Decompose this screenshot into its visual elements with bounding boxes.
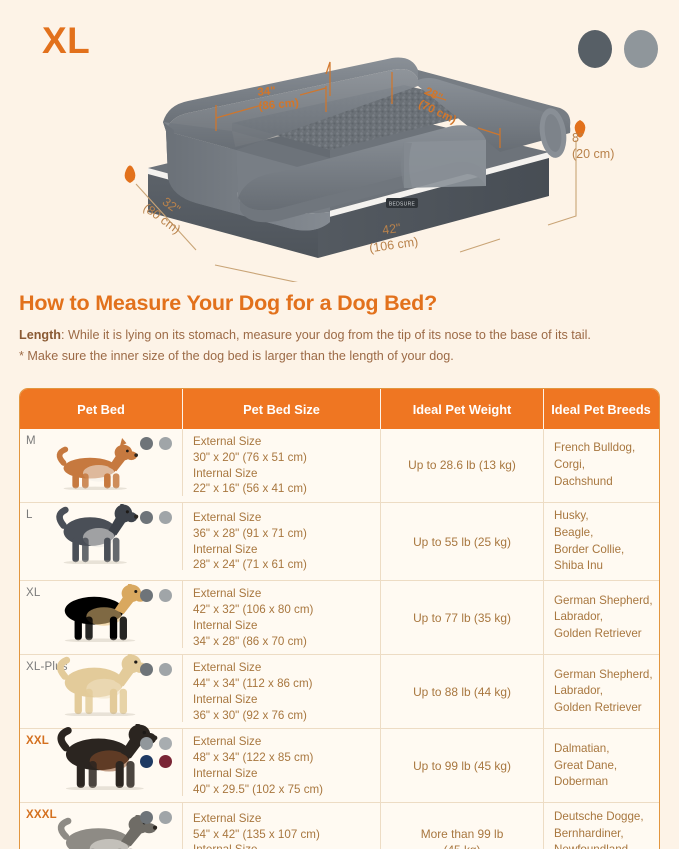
cell-ideal-pet-weight: More than 99 lb(45 kg): [381, 803, 544, 849]
breed-line: Labrador,: [554, 683, 653, 700]
pet-bed-size-text: External Size54" x 42" (135 x 107 cm)Int…: [193, 811, 320, 849]
size-line: Internal Size: [193, 466, 307, 482]
ideal-pet-breeds-text: French Bulldog,Corgi,Dachshund: [554, 440, 635, 490]
cell-ideal-pet-breeds: Husky,Beagle,Border Collie,Shiba Inu: [544, 503, 658, 580]
size-line: Internal Size: [193, 692, 313, 708]
row-color-swatches: [140, 811, 172, 824]
table-body: M External Size30" x 20" (76 x 51 cm)Int…: [20, 429, 659, 849]
size-line: Internal Size: [193, 766, 323, 782]
breed-line: Deutsche Dogge,: [554, 809, 644, 826]
size-line: 34" x 28" (86 x 70 cm): [193, 634, 313, 650]
cell-ideal-pet-breeds: Deutsche Dogge,Bernhardiner,Newfoundland…: [544, 803, 658, 849]
size-line: 36" x 28" (91 x 71 cm): [193, 526, 307, 542]
pet-bed-size-label: XL: [26, 587, 40, 599]
color-swatch[interactable]: [140, 737, 153, 750]
size-line: Internal Size: [193, 542, 307, 558]
dog-image: [53, 654, 151, 721]
table-row: XL-Plus External Size44" x 34" (112 x 86…: [20, 654, 659, 728]
dog-image: [53, 504, 141, 569]
color-swatch[interactable]: [159, 511, 172, 524]
weight-line: Up to 77 lb (35 kg): [413, 610, 511, 626]
dog-image: [53, 584, 151, 647]
cell-ideal-pet-weight: Up to 77 lb (35 kg): [381, 581, 544, 654]
ideal-pet-weight-text: More than 99 lb(45 kg): [421, 826, 504, 849]
ideal-pet-weight-text: Up to 55 lb (25 kg): [413, 534, 511, 550]
weight-line: More than 99 lb: [421, 826, 504, 842]
cell-ideal-pet-weight: Up to 88 lb (44 kg): [381, 655, 544, 728]
dog-bed-illustration: BEDSURE: [0, 0, 679, 282]
breed-line: Shiba Inu: [554, 558, 624, 575]
size-line: 40" x 29.5" (102 x 75 cm): [193, 782, 323, 798]
size-line: External Size: [193, 434, 307, 450]
howto-length-label: Length: [19, 328, 61, 342]
ideal-pet-breeds-text: Husky,Beagle,Border Collie,Shiba Inu: [554, 508, 624, 575]
row-color-swatches: [140, 663, 172, 676]
table-row: XXL External Size48" x 34" (122 x 85 cm)…: [20, 728, 659, 802]
row-color-swatches: [140, 737, 172, 768]
weight-line: Up to 88 lb (44 kg): [413, 684, 511, 700]
color-swatch[interactable]: [159, 437, 172, 450]
cell-pet-bed: L: [20, 503, 183, 570]
table-header-cell: Ideal Pet Weight: [381, 389, 544, 429]
color-swatch[interactable]: [140, 589, 153, 602]
howto-section: How to Measure Your Dog for a Dog Bed? L…: [19, 290, 664, 366]
pet-bed-size-text: External Size42" x 32" (106 x 80 cm)Inte…: [193, 586, 313, 649]
dog-illustration-labrador: [53, 654, 151, 716]
pet-bed-size-text: External Size44" x 34" (112 x 86 cm)Inte…: [193, 660, 313, 723]
size-line: External Size: [193, 510, 307, 526]
ideal-pet-breeds-text: German Shepherd,Labrador,Golden Retrieve…: [554, 667, 653, 717]
breed-line: Husky,: [554, 508, 624, 525]
dog-illustration-golden-retriever: [53, 584, 151, 642]
breed-line: Beagle,: [554, 525, 624, 542]
pet-bed-size-text: External Size48" x 34" (122 x 85 cm)Inte…: [193, 734, 323, 797]
table-header-cell: Ideal Pet Breeds: [544, 389, 658, 429]
size-line: 28" x 24" (71 x 61 cm): [193, 557, 307, 573]
size-line: External Size: [193, 586, 313, 602]
color-swatch[interactable]: [140, 811, 153, 824]
pet-bed-size-text: External Size36" x 28" (91 x 71 cm)Inter…: [193, 510, 307, 573]
cell-pet-bed-size: External Size44" x 34" (112 x 86 cm)Inte…: [183, 655, 381, 728]
weight-line: Up to 99 lb (45 kg): [413, 758, 511, 774]
ideal-pet-weight-text: Up to 28.6 lb (13 kg): [408, 457, 516, 473]
size-line: 48" x 34" (122 x 85 cm): [193, 750, 323, 766]
table-header-cell: Pet Bed: [20, 389, 183, 429]
cell-pet-bed-size: External Size36" x 28" (91 x 71 cm)Inter…: [183, 503, 381, 580]
cell-pet-bed: XL-Plus: [20, 655, 183, 722]
weight-line: (45 kg): [421, 842, 504, 849]
breed-line: German Shepherd,: [554, 593, 653, 610]
color-swatch[interactable]: [159, 811, 172, 824]
pet-bed-size-text: External Size30" x 20" (76 x 51 cm)Inter…: [193, 434, 307, 497]
size-line: External Size: [193, 734, 323, 750]
cell-ideal-pet-weight: Up to 99 lb (45 kg): [381, 729, 544, 802]
size-line: Internal Size: [193, 618, 313, 634]
table-header-cell: Pet Bed Size: [183, 389, 381, 429]
dog-illustration-border-collie: [53, 504, 141, 564]
row-color-swatches: [140, 437, 172, 450]
breed-line: Bernhardiner,: [554, 826, 644, 843]
size-line: 54" x 42" (135 x 107 cm): [193, 827, 320, 843]
ideal-pet-breeds-text: German Shepherd,Labrador,Golden Retrieve…: [554, 593, 653, 643]
table-header-row: Pet BedPet Bed SizeIdeal Pet WeightIdeal…: [20, 389, 659, 429]
pet-bed-size-label: XXL: [26, 735, 49, 747]
size-chart-table: Pet BedPet Bed SizeIdeal Pet WeightIdeal…: [19, 388, 660, 849]
ideal-pet-breeds-text: Dalmatian,Great Dane,Doberman: [554, 741, 617, 791]
pet-bed-size-label: M: [26, 435, 36, 447]
color-swatch[interactable]: [159, 663, 172, 676]
dimension-height: 8" (20 cm): [572, 131, 614, 162]
howto-heading: How to Measure Your Dog for a Dog Bed?: [19, 290, 664, 318]
cell-ideal-pet-weight: Up to 55 lb (25 kg): [381, 503, 544, 580]
dog-image: [53, 438, 141, 495]
cell-ideal-pet-breeds: German Shepherd,Labrador,Golden Retrieve…: [544, 581, 658, 654]
row-color-swatches: [140, 589, 172, 602]
breed-line: German Shepherd,: [554, 667, 653, 684]
color-swatch[interactable]: [159, 755, 172, 768]
color-swatch[interactable]: [159, 737, 172, 750]
dimension-internal-length: 34" (86 cm): [257, 82, 300, 114]
size-line: Internal Size: [193, 842, 320, 849]
svg-text:BEDSURE: BEDSURE: [389, 202, 416, 208]
cell-ideal-pet-breeds: Dalmatian,Great Dane,Doberman: [544, 729, 658, 802]
size-line: External Size: [193, 811, 320, 827]
ideal-pet-breeds-text: Deutsche Dogge,Bernhardiner,Newfoundland…: [554, 809, 644, 849]
ideal-pet-weight-text: Up to 77 lb (35 kg): [413, 610, 511, 626]
size-line: 36" x 30" (92 x 76 cm): [193, 708, 313, 724]
weight-line: Up to 28.6 lb (13 kg): [408, 457, 516, 473]
breed-line: Corgi,: [554, 457, 635, 474]
row-color-swatches: [140, 511, 172, 524]
cell-pet-bed: M: [20, 429, 183, 496]
breed-line: Doberman: [554, 774, 617, 791]
howto-length-text: : While it is lying on its stomach, meas…: [61, 328, 591, 342]
cell-pet-bed-size: External Size54" x 42" (135 x 107 cm)Int…: [183, 803, 381, 849]
cell-pet-bed-size: External Size48" x 34" (122 x 85 cm)Inte…: [183, 729, 381, 802]
weight-line: Up to 55 lb (25 kg): [413, 534, 511, 550]
size-line: 22" x 16" (56 x 41 cm): [193, 481, 307, 497]
ideal-pet-weight-text: Up to 99 lb (45 kg): [413, 758, 511, 774]
table-row: M External Size30" x 20" (76 x 51 cm)Int…: [20, 429, 659, 502]
size-line: 42" x 32" (106 x 80 cm): [193, 602, 313, 618]
breed-line: Great Dane,: [554, 758, 617, 775]
color-swatch[interactable]: [140, 663, 153, 676]
product-infographic: XL: [0, 0, 679, 849]
hero-section: XL: [0, 0, 679, 282]
breed-line: Border Collie,: [554, 542, 624, 559]
breed-line: Newfoundland,: [554, 842, 644, 849]
cell-pet-bed-size: External Size42" x 32" (106 x 80 cm)Inte…: [183, 581, 381, 654]
size-line: 30" x 20" (76 x 51 cm): [193, 450, 307, 466]
breed-line: Golden Retriever: [554, 700, 653, 717]
table-row: XL External Size42" x 32" (106 x 80 cm)I…: [20, 580, 659, 654]
color-swatch[interactable]: [140, 755, 153, 768]
color-swatch[interactable]: [140, 511, 153, 524]
breed-line: Labrador,: [554, 609, 653, 626]
color-swatch[interactable]: [140, 437, 153, 450]
cell-pet-bed: XL: [20, 581, 183, 648]
ideal-pet-weight-text: Up to 88 lb (44 kg): [413, 684, 511, 700]
cell-ideal-pet-breeds: French Bulldog,Corgi,Dachshund: [544, 429, 658, 502]
color-swatch[interactable]: [159, 589, 172, 602]
dog-illustration-corgi: [53, 438, 141, 490]
breed-line: French Bulldog,: [554, 440, 635, 457]
cell-ideal-pet-breeds: German Shepherd,Labrador,Golden Retrieve…: [544, 655, 658, 728]
howto-length-paragraph: Length: While it is lying on its stomach…: [19, 327, 664, 345]
cell-pet-bed-size: External Size30" x 20" (76 x 51 cm)Inter…: [183, 429, 381, 502]
cell-ideal-pet-weight: Up to 28.6 lb (13 kg): [381, 429, 544, 502]
size-line: 44" x 34" (112 x 86 cm): [193, 676, 313, 692]
table-row: L External Size36" x 28" (91 x 71 cm)Int…: [20, 502, 659, 580]
howto-note: * Make sure the inner size of the dog be…: [19, 348, 664, 366]
size-line: External Size: [193, 660, 313, 676]
breed-line: Golden Retriever: [554, 626, 653, 643]
table-row: XXXL External Size54" x 42" (135 x 107 c…: [20, 802, 659, 849]
breed-line: Dalmatian,: [554, 741, 617, 758]
cell-pet-bed: XXL: [20, 729, 183, 796]
cell-pet-bed: XXXL: [20, 803, 183, 849]
breed-line: Dachshund: [554, 474, 635, 491]
pet-bed-size-label: L: [26, 509, 33, 521]
